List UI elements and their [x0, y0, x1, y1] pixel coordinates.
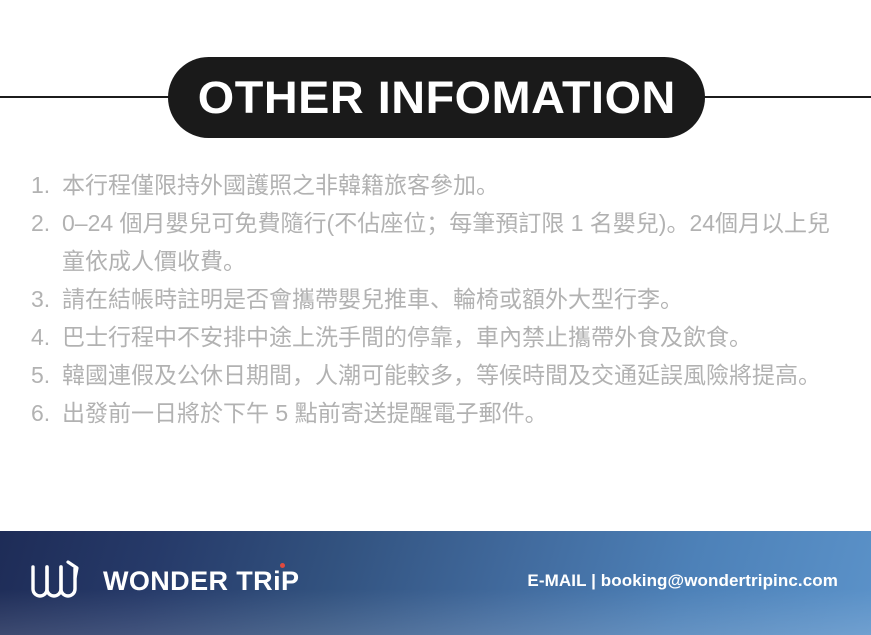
list-item-number: 4. — [31, 318, 62, 356]
list-item-text: 韓國連假及公休日期間，人潮可能較多，等候時間及交通延誤風險將提高。 — [62, 356, 849, 394]
header-rule-left — [0, 96, 178, 98]
brand-lockup: WONDER TRiP — [28, 559, 299, 603]
header-rule-right — [696, 96, 871, 98]
list-item: 6. 出發前一日將於下午 5 點前寄送提醒電子郵件。 — [31, 394, 849, 432]
brand-name: WONDER TRiP — [103, 568, 299, 595]
other-information-list: 1. 本行程僅限持外國護照之非韓籍旅客參加。 2. 0–24 個月嬰兒可免費隨行… — [31, 166, 849, 432]
header-band: OTHER INFOMATION — [0, 0, 871, 150]
list-item-number: 5. — [31, 356, 62, 394]
list-item-text: 出發前一日將於下午 5 點前寄送提醒電子郵件。 — [62, 394, 849, 432]
page-title: OTHER INFOMATION — [197, 75, 675, 120]
list-item-text: 巴士行程中不安排中途上洗手間的停靠，車內禁止攜帶外食及飲食。 — [62, 318, 849, 356]
list-item-number: 6. — [31, 394, 62, 432]
list-item: 1. 本行程僅限持外國護照之非韓籍旅客參加。 — [31, 166, 849, 204]
list-item-text: 0–24 個月嬰兒可免費隨行(不佔座位；每筆預訂限 1 名嬰兒)。24個月以上兒… — [62, 204, 849, 280]
list-item: 3. 請在結帳時註明是否會攜帶嬰兒推車、輪椅或額外大型行李。 — [31, 280, 849, 318]
list-item: 5. 韓國連假及公休日期間，人潮可能較多，等候時間及交通延誤風險將提高。 — [31, 356, 849, 394]
list-item: 4. 巴士行程中不安排中途上洗手間的停靠，車內禁止攜帶外食及飲食。 — [31, 318, 849, 356]
list-item-number: 3. — [31, 280, 62, 318]
title-pill: OTHER INFOMATION — [168, 57, 705, 138]
brand-accent-dot-icon — [280, 563, 285, 568]
list-item-text: 本行程僅限持外國護照之非韓籍旅客參加。 — [62, 166, 849, 204]
contact-email[interactable]: E-MAIL | booking@wondertripinc.com — [527, 571, 838, 591]
footer-bar: WONDER TRiP E-MAIL | booking@wondertripi… — [0, 531, 871, 635]
wonder-trip-logo-icon — [28, 559, 90, 603]
brand-name-text: WONDER TRiP — [103, 566, 299, 596]
list-item-text: 請在結帳時註明是否會攜帶嬰兒推車、輪椅或額外大型行李。 — [62, 280, 849, 318]
list-item-number: 1. — [31, 166, 62, 204]
list-item: 2. 0–24 個月嬰兒可免費隨行(不佔座位；每筆預訂限 1 名嬰兒)。24個月… — [31, 204, 849, 280]
list-item-number: 2. — [31, 204, 62, 242]
